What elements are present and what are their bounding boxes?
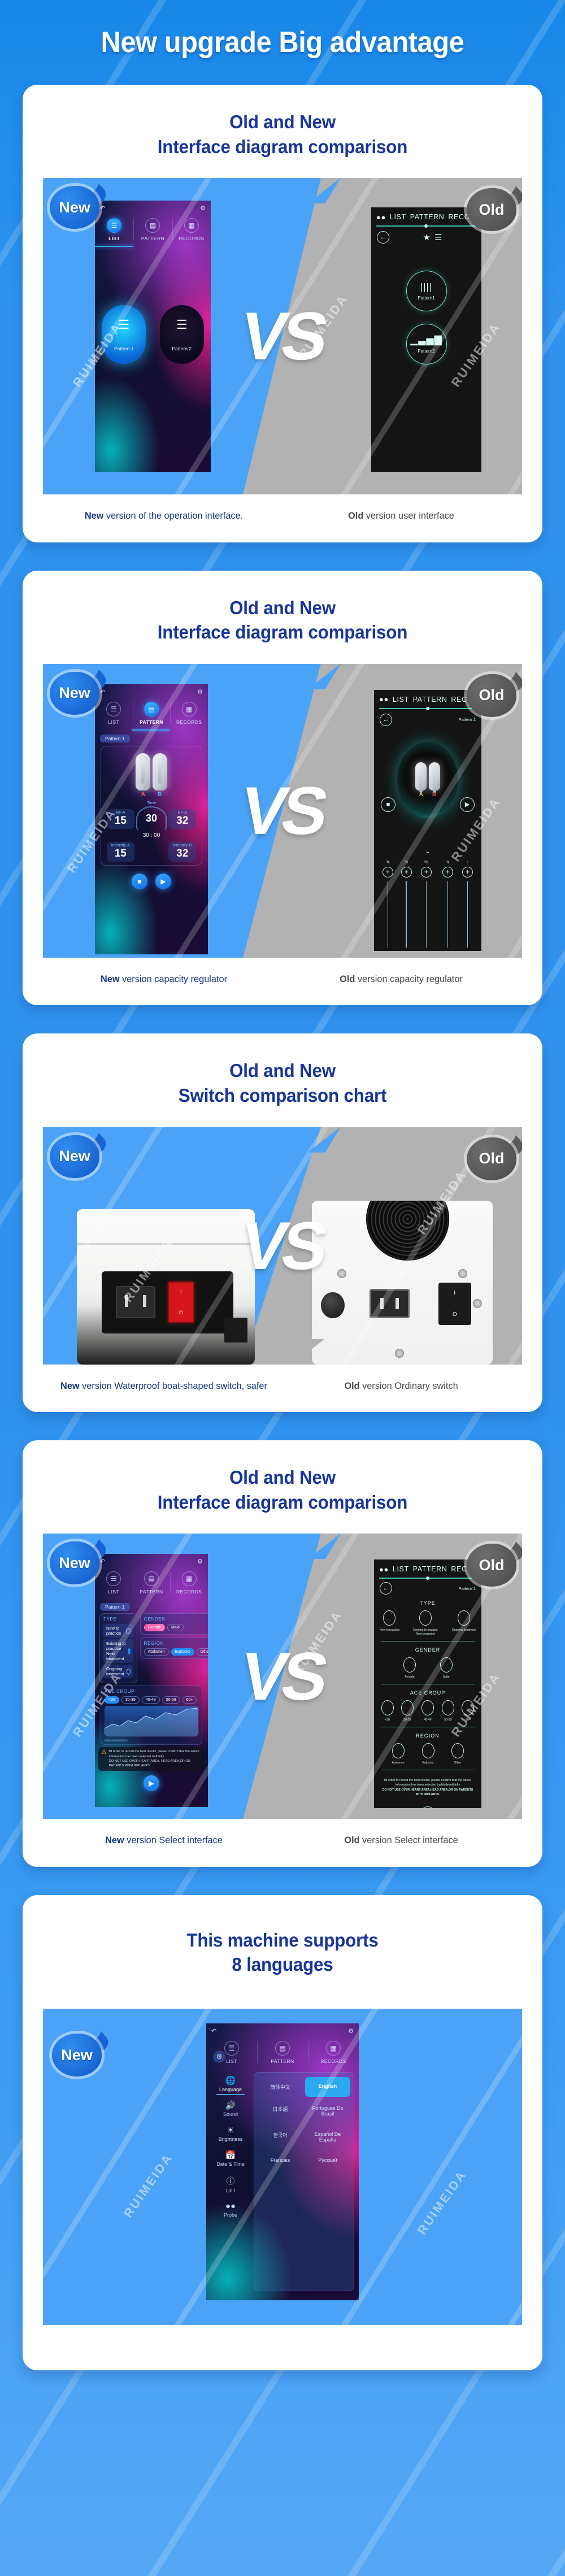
pointer-notch-bottom [292, 932, 334, 958]
radio-icon [126, 1628, 131, 1634]
age-option[interactable]: 40-49 [142, 1696, 160, 1704]
section-header-type: TYPE [374, 1600, 481, 1606]
card-footer-space [23, 2325, 542, 2370]
radio-icon [383, 1610, 395, 1626]
age-option[interactable]: 60+ [182, 1696, 197, 1704]
list-icon: ☰ [107, 218, 121, 233]
tab-list[interactable]: ☰ LIST [95, 699, 133, 729]
type-section: TYPE New to practice Existing to practic… [99, 1613, 137, 1683]
power-panel: I O [102, 1271, 233, 1333]
plus-icon[interactable]: + [401, 867, 412, 878]
play-icon[interactable]: ▶ [460, 797, 475, 812]
stepper-value: 32 [171, 848, 194, 860]
probe-icon: ●● [379, 695, 389, 703]
tab-pattern[interactable]: ▤ PATTERN [133, 699, 171, 729]
star-icon[interactable]: ★ [423, 232, 431, 242]
probe-b-graphic [153, 753, 167, 790]
option-label: New to practice [106, 1626, 126, 1636]
gender-options: Female Male [144, 1624, 208, 1631]
tab-label: LIST [95, 719, 133, 725]
badge-label: New [59, 1148, 90, 1165]
probe-a-label: A [141, 792, 145, 798]
divider [381, 1684, 475, 1684]
rocker-switch-black: I O [438, 1283, 471, 1325]
gear-icon[interactable]: ⚙ [200, 205, 206, 212]
badge-label: Old [479, 1557, 505, 1574]
comparison-card-capacity-regulator: Old and New Interface diagram comparison… [23, 571, 542, 1006]
radio-icon [127, 1669, 131, 1675]
list-icon: ☰ [106, 1571, 121, 1586]
settings-item-probe[interactable]: ●● Probe [211, 2198, 250, 2221]
probe-b-label: B [158, 792, 162, 798]
speaker-icon: 🔊 [211, 2100, 250, 2110]
settings-item-unit[interactable]: ⓘ Unit [211, 2171, 250, 2196]
region-option[interactable]: Buttocks [422, 1743, 434, 1765]
caption-old: Old version user interface [287, 509, 515, 523]
region-option[interactable]: Other [451, 1743, 464, 1765]
grid-icon: ▤ [144, 1571, 159, 1586]
graph-axis: ||||||||||||||||||||||||||||||||||||||| [105, 1739, 198, 1741]
back-arrow-icon[interactable]: ↶ [211, 2027, 216, 2035]
plus-icon[interactable]: + [383, 867, 393, 878]
play-icon[interactable]: ▶ [144, 1775, 159, 1791]
gender-option-male[interactable]: Male [167, 1624, 184, 1631]
comparison-stage: ↶ ⚙ ☰ LIST ▤ PATTERN ▦ [43, 1534, 522, 1819]
nav-pattern[interactable]: PATTERN [410, 213, 445, 221]
probe-illustration [105, 753, 198, 790]
slider-unit: % [405, 861, 408, 865]
stepper-rf-a[interactable]: RF-A 15 [107, 809, 134, 829]
tab-pattern[interactable]: ▤ PATTERN [257, 2038, 308, 2069]
old-version-device: ●● LIST PATTERN RECORDS ⚙ ← Pattern 1 [374, 690, 481, 951]
signal-icon: ▁▃▅▇ [410, 335, 442, 346]
brightness-icon: ☀ [211, 2125, 250, 2135]
pattern-chip: Pattern 1 [100, 1603, 130, 1611]
tab-label: PATTERN [257, 2058, 308, 2064]
settings-item-datetime[interactable]: 📅 Date & Time [211, 2147, 250, 2170]
iec-socket-icon [116, 1286, 155, 1318]
gender-options: Female Male [374, 1657, 481, 1679]
nav-list[interactable]: LIST [393, 1565, 409, 1573]
option-label: New to practice [379, 1628, 399, 1636]
comparison-stage: ↶ ⚙ ☰ LIST ▤ PATTERN ▦ [43, 178, 522, 494]
stop-icon[interactable]: ■ [132, 874, 147, 889]
old-ui-subbar: ← ★ ☰ [371, 227, 481, 248]
gear-icon[interactable]: ⚙ [197, 688, 203, 696]
tab-records[interactable]: ▦ RECORDS [170, 1569, 208, 1599]
screw-icon [337, 1269, 346, 1278]
list-icon[interactable]: ☰ [434, 232, 442, 242]
card-title-line2: Interface diagram comparison [46, 1490, 519, 1515]
old-ui-topbar: ●● LIST PATTERN RECORDS ⚙ [371, 207, 481, 224]
radio-icon [403, 1657, 416, 1673]
badge-label: New [59, 199, 90, 216]
type-option[interactable]: Existing to practice New treatment [410, 1610, 441, 1636]
stepper-intensity-a[interactable]: Intensity-A 15 [107, 842, 134, 862]
age-options: <30 30-39 40-49 50-59 60+ [105, 1696, 198, 1704]
plus-icon[interactable]: + [421, 867, 432, 878]
language-option-zh[interactable]: 简体中文 [258, 2077, 303, 2097]
pattern-chip: Pattern 1 [100, 735, 130, 742]
tab-label: RECORDS [170, 719, 208, 725]
language-device: ↶ ⚙ ☰ LIST ▤ PATTERN ▦ [206, 2023, 359, 2300]
slider-unit: % [424, 861, 428, 865]
new-badge: New [50, 1135, 99, 1178]
caption-text: version capacity regulator [120, 974, 227, 984]
records-icon: ▦ [182, 1571, 197, 1586]
fuse-knob-icon [321, 1292, 345, 1318]
comparison-card-interface-1: Old and New Interface diagram comparison… [23, 85, 542, 542]
stepper-value: 32 [171, 815, 194, 827]
old-pattern-button-2[interactable]: ▁▃▅▇ Pattern2 [406, 324, 447, 364]
new-ui-tabs: ☰ LIST ▤ PATTERN ▦ RECORDS [206, 2038, 359, 2069]
card-title-line2: Interface diagram comparison [46, 134, 519, 159]
slider-track[interactable] [406, 881, 406, 948]
old-badge: Old [467, 1544, 516, 1587]
language-stage: ↶ ⚙ ☰ LIST ▤ PATTERN ▦ [43, 2009, 522, 2325]
probe-b-graphic [429, 762, 440, 790]
caption-old: Old version Select interface [287, 1834, 515, 1848]
caption-old: Old version capacity regulator [287, 972, 515, 987]
language-support-card: This machine supports 8 languages ↶ ⚙ ☰ … [23, 1895, 542, 2370]
old-ui-subbar: ← Pattern 1 [374, 1579, 481, 1595]
new-badge: New [50, 1541, 99, 1584]
caption-emphasis: Old [344, 1835, 359, 1845]
screw-icon [473, 1299, 482, 1308]
old-version-device: ●● LIST PATTERN RECORDS ⚙ ← ★ ☰ [371, 207, 481, 472]
nav-underline [379, 708, 476, 709]
caption-new: New version capacity regulator [50, 972, 277, 987]
settings-menu: 🌐 Language 🔊 Sound ☀ Brightness [211, 2072, 250, 2291]
settings-item-sound[interactable]: 🔊 Sound [211, 2097, 250, 2120]
type-option[interactable]: Existing to practice New treatment [103, 1639, 133, 1663]
slider-track[interactable] [426, 881, 427, 948]
warning-line2: DO NOT USE OVER HEART AREA,HEAD AREA,OR … [383, 1788, 473, 1797]
settings-item-label: Probe [224, 2212, 237, 2218]
nav-underline [376, 225, 476, 227]
badge-label: New [59, 684, 90, 702]
treatment-graph [105, 1706, 198, 1736]
language-option-ru[interactable]: Русский [305, 2151, 350, 2169]
new-ui-screen: ↶ ⚙ ☰ LIST ▤ PATTERN ▦ [95, 684, 208, 954]
vs-mark: VS [236, 777, 329, 845]
warning-line1: IN order to record the best results, ple… [384, 1779, 471, 1787]
probe-a-graphic [415, 762, 427, 790]
gear-icon[interactable]: ⚙ [197, 1558, 203, 1565]
section-header-region: REGION [374, 1733, 481, 1739]
age-option[interactable]: <30 [381, 1700, 394, 1722]
stepper-label: Intensity-B [171, 844, 194, 848]
slider-intensity-b[interactable]: % + − IntensityB [441, 861, 454, 951]
region-option[interactable]: Abdomen [392, 1743, 405, 1765]
tab-label: PATTERN [133, 1589, 171, 1595]
card-title-line1: Old and New [46, 1058, 519, 1083]
slider-rfa[interactable]: % + − RFA [383, 861, 393, 951]
language-option-en[interactable]: English [305, 2077, 350, 2097]
age-option[interactable]: 60+ [462, 1700, 474, 1722]
transport-controls: ■ ▶ [95, 869, 208, 895]
old-switch-photo: I O [312, 1201, 493, 1365]
tab-label: RECORDS [172, 236, 211, 241]
warning-line2: DO NOT USE OVER HEART AREA, HEAD AREA,OR… [109, 1760, 190, 1767]
age-option[interactable]: 50-59 [162, 1696, 180, 1704]
warning-sticker [224, 1318, 247, 1343]
chevron-down-icon[interactable]: ⌄ [374, 847, 481, 855]
new-switch-photo: I O [77, 1209, 255, 1365]
transport-controls: ■ ▶ [374, 797, 481, 812]
records-icon: ▦ [182, 702, 197, 716]
caption-text: version Select interface [360, 1835, 458, 1845]
option-label: Female [405, 1675, 414, 1679]
probe-labels: A B [105, 792, 198, 798]
pointer-notch-bottom [292, 1793, 334, 1819]
play-icon[interactable]: ▶ [420, 1806, 435, 1808]
new-ui-screen: ↶ ⚙ ☰ LIST ▤ PATTERN ▦ [95, 1554, 208, 1807]
stepper-rf-b[interactable]: RF-B 32 [168, 809, 196, 829]
card-captions: New version Waterproof boat-shaped switc… [23, 1365, 542, 1413]
records-icon: ▦ [184, 218, 199, 233]
vs-mark: VS [236, 1643, 329, 1710]
option-label: 30-39 [404, 1718, 411, 1722]
new-ui-tabs: ☰ LIST ▤ PATTERN ▦ RECORDS [95, 215, 211, 246]
warning-triangle-icon: ⚠ [101, 1749, 107, 1756]
radio-icon [419, 1610, 432, 1626]
probe-icon: ●● [376, 213, 386, 221]
type-option[interactable]: Ongoing treatment [451, 1610, 477, 1636]
old-badge: Old [467, 674, 516, 717]
gender-option[interactable]: Female [403, 1657, 416, 1679]
switch-on-label: I [454, 1290, 455, 1296]
slider-unit: % [446, 861, 449, 865]
radio-icon [401, 1700, 414, 1715]
settings-item-label: Date & Time [216, 2161, 245, 2167]
option-label: Ongoing treatment [452, 1628, 476, 1636]
slider-unit: : [467, 861, 468, 865]
timer-dial[interactable]: Time 30 30 : 00 [134, 800, 169, 839]
type-option[interactable]: New to practice [379, 1610, 400, 1636]
info-icon: ⓘ [211, 2175, 250, 2187]
vs-mark: VS [236, 1212, 329, 1280]
tab-label: RECORDS [170, 1589, 208, 1595]
age-option[interactable]: 30-39 [401, 1700, 414, 1722]
back-circle-icon[interactable]: ← [380, 714, 392, 726]
language-option-pt[interactable]: Portugues Do Brasil [305, 2099, 350, 2123]
pattern-name: Pattern 1 [114, 346, 134, 351]
warning-line1: IN order to record the best results, ple… [109, 1750, 199, 1758]
section-header: REGION [144, 1641, 208, 1646]
pattern-name: Pattern1 [418, 296, 434, 301]
settings-item-language[interactable]: 🌐 Language [211, 2072, 250, 2095]
stepper-label: RF-A [109, 811, 132, 815]
tab-records[interactable]: ▦ RECORDS [172, 215, 211, 246]
new-ui-screen: ↶ ⚙ ☰ LIST ▤ PATTERN ▦ [95, 201, 211, 472]
timer-value: 30 [136, 806, 167, 831]
type-options: New to practice Existing to practice New… [374, 1610, 481, 1636]
age-option[interactable]: <30 [105, 1696, 119, 1704]
card-title-line1: This machine supports [46, 1928, 519, 1953]
divider [381, 1641, 475, 1641]
new-badge: New [50, 186, 99, 229]
old-pattern-button-1[interactable]: |||| Pattern1 [406, 271, 447, 311]
page-title: New upgrade Big advantage [101, 25, 464, 59]
settings-item-label: Sound [223, 2112, 238, 2117]
hero-header: New upgrade Big advantage [0, 0, 565, 85]
stepper-intensity-b[interactable]: Intensity-B 32 [168, 842, 196, 862]
radio-icon [440, 1657, 453, 1673]
slider-bank: % + − RFA % + − RFB [374, 861, 481, 951]
language-option-fr[interactable]: Francais [258, 2151, 303, 2169]
card-title-line2: Interface diagram comparison [46, 620, 519, 645]
tab-label: PATTERN [133, 236, 172, 241]
option-label: Buttocks [423, 1761, 434, 1765]
screw-icon [458, 1269, 467, 1278]
card-title: Old and New Switch comparison chart [36, 1033, 529, 1127]
option-label: Male [443, 1675, 449, 1679]
badge-label: Old [479, 1150, 505, 1167]
gender-option-female[interactable]: Female [144, 1624, 165, 1631]
card-captions: New version Select interface Old version… [23, 1819, 542, 1867]
old-ui-screen: ●● LIST PATTERN RECORDS ⚙ ← ★ ☰ [371, 207, 481, 472]
stop-icon[interactable]: ■ [381, 797, 395, 812]
nav-list[interactable]: LIST [393, 696, 409, 703]
region-option-buttocks[interactable]: Buttocks [171, 1648, 194, 1656]
caption-emphasis: Old [348, 510, 363, 521]
age-option[interactable]: 40-49 [421, 1700, 434, 1722]
nav-pattern[interactable]: PATTERN [413, 1565, 447, 1573]
option-label: 40-49 [424, 1718, 431, 1722]
rocker-switch-red: I O [168, 1282, 195, 1323]
caption-new: New version Select interface [50, 1834, 277, 1848]
watermark-text: RUIMEIDA [415, 2167, 470, 2238]
tab-list[interactable]: ☰ LIST [95, 215, 133, 246]
region-option-abdomen[interactable]: Abdomen [144, 1648, 169, 1656]
switch-on-label: I [180, 1289, 182, 1294]
old-ui-screen: ●● LIST PATTERN RECORDS ⚙ ← Pattern 1 [374, 690, 481, 951]
new-ui-tabs: ☰ LIST ▤ PATTERN ▦ RECORDS [95, 699, 208, 729]
fan-grille-icon [366, 1201, 449, 1261]
radio-icon [442, 1700, 454, 1715]
panel-seam [77, 1243, 255, 1245]
bars-icon: |||| [420, 281, 433, 293]
badge-label: New [61, 2047, 93, 2064]
card-title-line1: Old and New [46, 596, 519, 620]
radio-icon-checked [128, 1648, 131, 1654]
slider-track[interactable] [447, 881, 448, 948]
tab-records[interactable]: ▦ RECORDS [170, 699, 208, 729]
region-options: Abdomen Buttocks Other [144, 1648, 208, 1656]
old-badge: Old [467, 1137, 516, 1180]
tab-pattern[interactable]: ▤ PATTERN [133, 215, 172, 246]
settings-item-brightness[interactable]: ☀ Brightness [211, 2122, 250, 2145]
pattern-label: Pattern 1 [459, 717, 476, 722]
language-option-ko[interactable]: 한국어 [258, 2125, 303, 2149]
type-option[interactable]: Ongoing treatment [103, 1665, 133, 1678]
type-option[interactable]: New to practice [103, 1624, 133, 1637]
option-label: 60+ [466, 1718, 471, 1722]
gender-option[interactable]: Male [440, 1657, 453, 1679]
language-options: 简体中文 English 日本語 Portugues Do Brasil 한국어… [254, 2072, 354, 2291]
pattern-button-2[interactable]: ☰ Pattern 2 [160, 305, 204, 364]
caption-text: version of the operation interface. [103, 510, 243, 521]
list-icon: ☰ [106, 702, 121, 716]
tab-pattern[interactable]: ▤ PATTERN [133, 1569, 171, 1599]
card-title: Old and New Interface diagram comparison [36, 1440, 529, 1534]
stepper-label: Intensity-A [109, 844, 132, 848]
probe-icon: ●● [379, 1565, 389, 1574]
caption-new: New version of the operation interface. [50, 509, 277, 523]
new-version-device: ↶ ⚙ ☰ LIST ▤ PATTERN ▦ [95, 201, 211, 472]
tab-records[interactable]: ▦ RECORDS [308, 2038, 359, 2069]
warning-box: ⚠ IN order to record the best results, p… [98, 1747, 205, 1771]
plus-icon[interactable]: + [462, 867, 473, 878]
divider [381, 1727, 475, 1727]
slider-time[interactable]: : + − Time [462, 861, 473, 951]
warning-note: IN order to record the best results, ple… [374, 1775, 481, 1801]
new-ui-tabs: ☰ LIST ▤ PATTERN ▦ RECORDS [95, 1569, 208, 1599]
play-icon[interactable]: ▶ [155, 874, 171, 889]
card-captions: New version capacity regulator Old versi… [23, 958, 542, 1006]
radio-icon [458, 1610, 470, 1626]
controls-row-top: RF-A 15 Time 30 30 : 00 RF-B 32 [105, 800, 198, 839]
slider-track[interactable] [388, 881, 388, 948]
pattern-button-1[interactable]: ☰ Pattern 1 [102, 305, 146, 364]
nav-pattern[interactable]: PATTERN [413, 696, 447, 703]
nav-list[interactable]: LIST [390, 213, 406, 221]
old-ui-topbar: ●● LIST PATTERN RECORDS ⚙ [374, 690, 481, 707]
age-option[interactable]: 30-39 [121, 1696, 140, 1704]
transport-controls: ▶ [95, 1771, 208, 1797]
plus-icon[interactable]: + [442, 867, 453, 878]
settings-gear-icon[interactable]: ⚙ [213, 2051, 225, 2063]
active-tab-underline [132, 729, 169, 731]
language-icon: 🌐 [211, 2075, 250, 2086]
card-title-line2: Switch comparison chart [46, 1083, 519, 1108]
divider [381, 1770, 475, 1770]
back-circle-icon[interactable]: ← [380, 1582, 392, 1595]
region-options: Abdomen Buttocks Other [374, 1743, 481, 1765]
language-option-es[interactable]: Español De España [305, 2125, 350, 2149]
page-root: New upgrade Big advantage Old and New In… [0, 0, 565, 2370]
regulator-panel: A B RF-A 15 Time 30 30 : 00 [101, 746, 202, 866]
language-option-ja[interactable]: 日本語 [258, 2099, 303, 2123]
tab-list[interactable]: ☰ LIST [95, 1569, 133, 1599]
option-label: 50-59 [444, 1718, 451, 1722]
caption-text: version capacity regulator [355, 974, 462, 984]
region-option-other[interactable]: Other [197, 1648, 208, 1656]
gender-section: GENDER Female Male [140, 1613, 208, 1635]
age-options: <30 30-39 40-49 50-59 60+ [374, 1700, 481, 1722]
old-ui-screen: ●● LIST PATTERN RECORDS ⚙ ← Pattern 1 TY… [374, 1559, 481, 1808]
age-option[interactable]: 50-59 [442, 1700, 454, 1722]
caption-emphasis: Old [340, 974, 355, 984]
iec-socket-icon [370, 1289, 409, 1318]
comparison-card-switch: Old and New Switch comparison chart I O [23, 1033, 542, 1412]
grid-icon: ▤ [144, 702, 159, 716]
slider-intensity-a[interactable]: % + − IntensityA [419, 861, 433, 951]
grid-icon: ▤ [145, 218, 160, 233]
caption-text: version user interface [363, 510, 454, 521]
new-badge: New [50, 672, 99, 715]
switch-off-label: O [179, 1310, 183, 1315]
back-circle-icon[interactable]: ← [377, 231, 389, 244]
slider-track[interactable] [467, 881, 468, 948]
gear-icon[interactable]: ⚙ [348, 2027, 354, 2035]
slider-rfb[interactable]: % + − RFB [401, 861, 412, 951]
new-ui-screen: ↶ ⚙ ☰ LIST ▤ PATTERN ▦ [206, 2023, 359, 2300]
option-label: Ongoing treatment [106, 1666, 127, 1676]
old-ui-subbar: ← Pattern 1 [374, 709, 481, 731]
grid-icon: ▤ [275, 2041, 290, 2056]
